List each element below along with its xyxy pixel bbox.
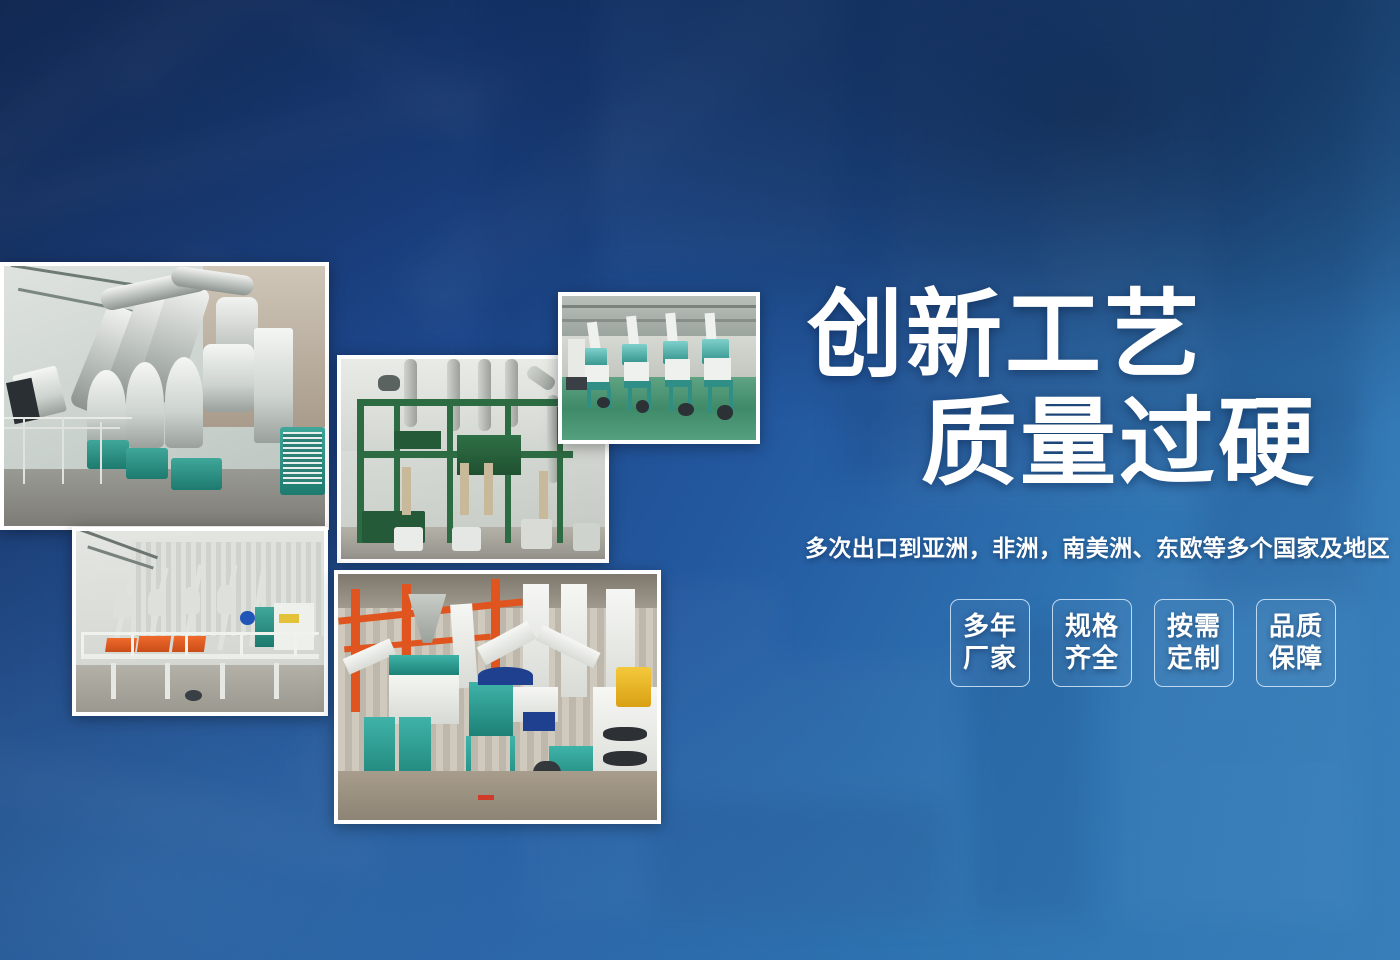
photo-teal-mill-row (558, 292, 760, 444)
badge-line-1: 多年 (963, 611, 1017, 643)
headline-line-2: 质量过硬 (921, 393, 1390, 495)
badge-line-2: 定制 (1167, 643, 1221, 675)
feature-badge[interactable]: 按需 定制 (1154, 599, 1234, 687)
badge-line-2: 保障 (1269, 643, 1323, 675)
photo-platform-line (72, 527, 328, 716)
badge-line-1: 规格 (1065, 611, 1119, 643)
headline-block: 创新工艺 质量过硬 多次出口到亚洲，非洲，南美洲、东欧等多个国家及地区 多年 厂… (745, 285, 1390, 687)
badge-line-2: 厂家 (963, 643, 1017, 675)
feature-badge[interactable]: 规格 齐全 (1052, 599, 1132, 687)
feature-badge[interactable]: 多年 厂家 (950, 599, 1030, 687)
promotional-banner: 创新工艺 质量过硬 多次出口到亚洲，非洲，南美洲、东欧等多个国家及地区 多年 厂… (0, 0, 1400, 960)
badge-line-2: 齐全 (1065, 643, 1119, 675)
badge-line-1: 品质 (1269, 611, 1323, 643)
feature-badge-list: 多年 厂家 规格 齐全 按需 定制 品质 保障 (745, 599, 1390, 687)
photo-milling-line (0, 262, 329, 530)
badge-line-1: 按需 (1167, 611, 1221, 643)
photo-teal-workshop (334, 570, 661, 824)
headline-line-1: 创新工艺 (807, 285, 1390, 387)
subtitle-text: 多次出口到亚洲，非洲，南美洲、东欧等多个国家及地区 (745, 529, 1390, 563)
feature-badge[interactable]: 品质 保障 (1256, 599, 1336, 687)
